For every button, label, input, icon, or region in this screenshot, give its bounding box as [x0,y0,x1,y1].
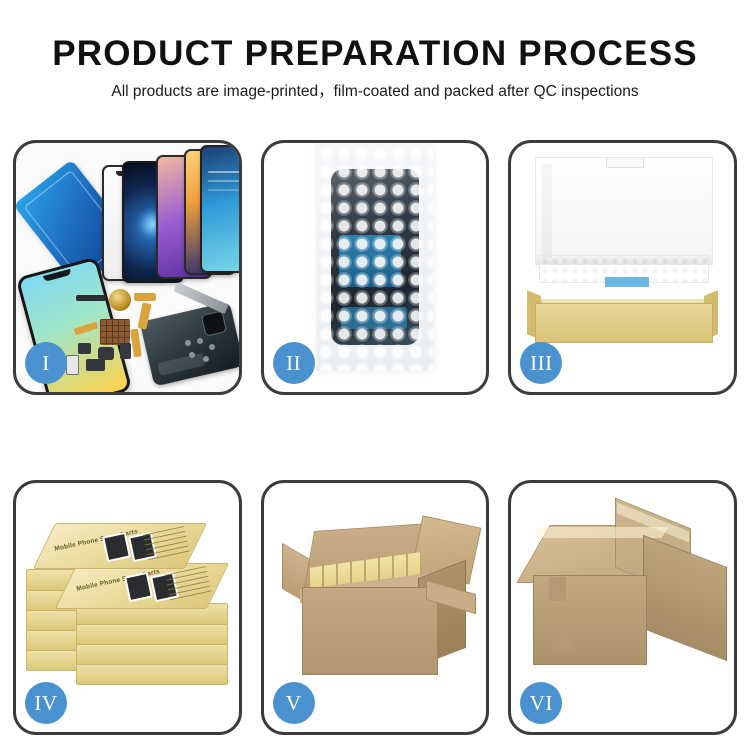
retail-box-top-upper: Mobile Phone Spare Parts [33,523,207,569]
stacked-box-edge [76,643,228,665]
battery-part [66,355,79,375]
carton-front [302,587,438,675]
screws-group [183,338,223,366]
retail-box-top-lower: Mobile Phone Spare Parts [55,563,229,609]
process-step-3: III [508,140,737,395]
step-badge-1: I [25,342,67,384]
carton-handle-tab-top [549,577,566,601]
chip-grid-part [100,319,130,345]
carton-handle-tab-bottom [553,633,570,651]
stacked-box-edge [76,663,228,685]
box-lid-open [535,157,713,265]
box-screen-graphic [102,532,131,562]
bag-edge-right [477,143,486,369]
box-screen-graphic [124,572,153,602]
speaker-coil-part [109,289,131,311]
flex-cable-part-3 [130,329,142,358]
bubble-texture [317,145,433,371]
process-grid: I II [13,140,737,735]
process-step-2: II [261,140,490,395]
process-step-1: I [13,140,242,395]
header: PRODUCT PREPARATION PROCESS All products… [0,0,750,100]
small-part-1 [78,343,91,354]
box-stack: Mobile Phone Spare Parts Mobile Phone Sp… [22,501,234,681]
process-step-4: Mobile Phone Spare Parts Mobile Phone Sp… [13,480,242,735]
step-badge-2: II [273,342,315,384]
infographic-page: PRODUCT PREPARATION PROCESS All products… [0,0,750,750]
connector-part [134,293,156,301]
process-step-6: VI [508,480,737,735]
small-part-4 [86,359,105,371]
step-badge-4: IV [25,682,67,724]
page-title: PRODUCT PREPARATION PROCESS [0,36,750,71]
phone-cyan [200,145,239,273]
box-front-panel [535,303,713,343]
sealed-carton-side [643,535,727,661]
step-badge-5: V [273,682,315,724]
page-subtitle: All products are image-printed，film-coat… [0,84,750,100]
bag-edge-left [264,143,273,369]
stacked-box-edge [76,623,228,645]
earpiece-part [76,295,106,301]
process-step-5: V [261,480,490,735]
small-part-3 [120,343,131,359]
